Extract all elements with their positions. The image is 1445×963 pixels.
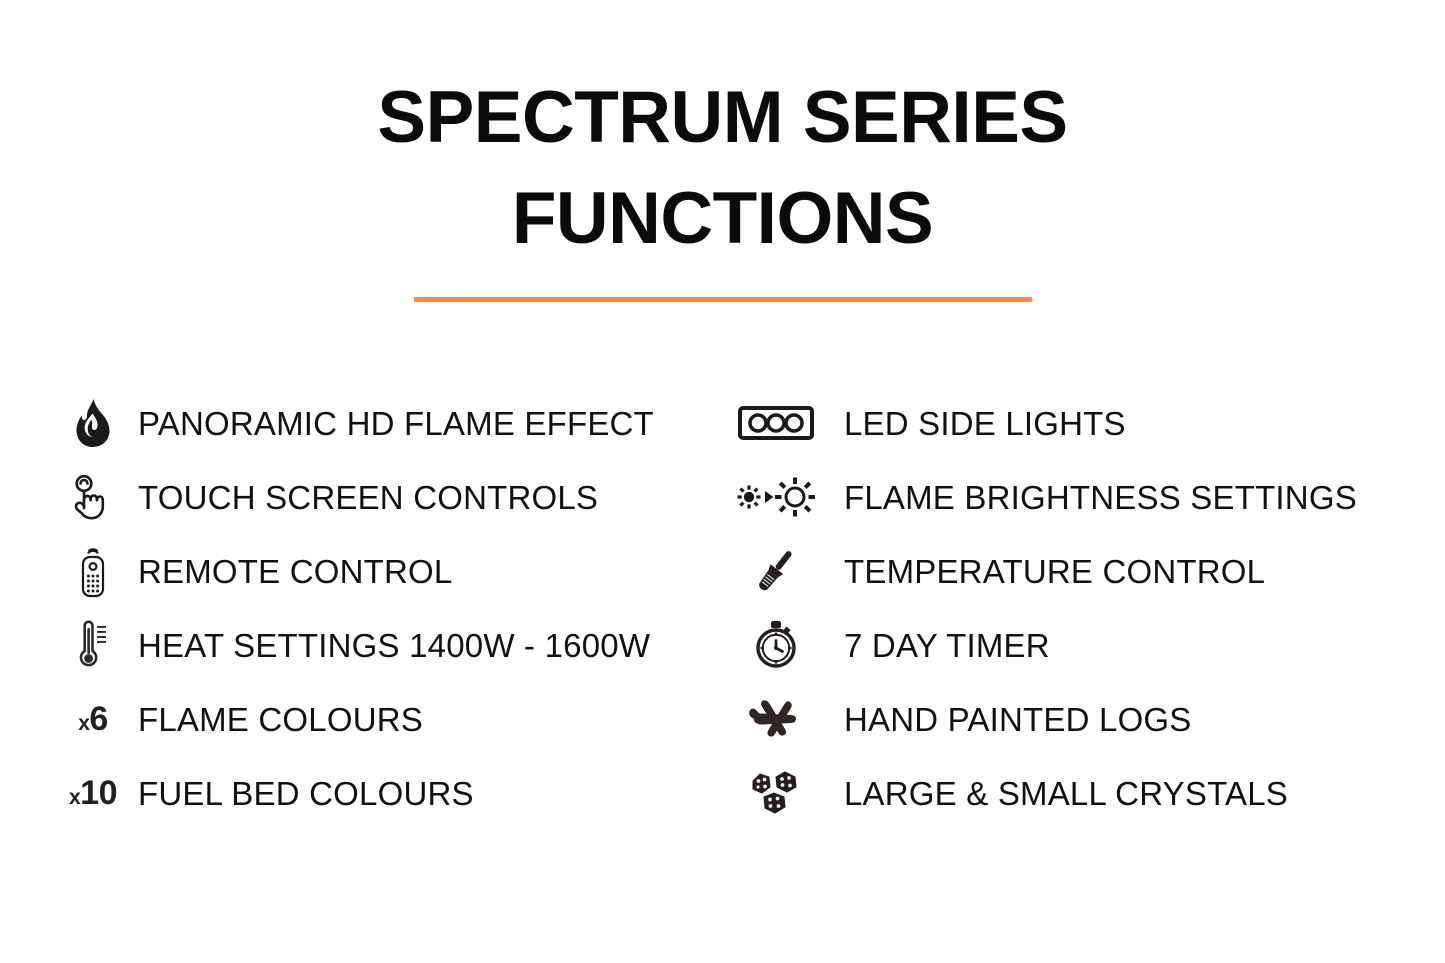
feature-label: HAND PAINTED LOGS	[844, 703, 1192, 736]
feature-label: HEAT SETTINGS 1400W - 1600W	[138, 629, 650, 662]
page-title: SPECTRUM SERIES FUNCTIONS	[0, 0, 1445, 302]
feature-row-crystals: LARGE & SMALL CRYSTALS	[730, 756, 1392, 830]
page-title-line-2: FUNCTIONS	[0, 169, 1445, 270]
feature-label: TOUCH SCREEN CONTROLS	[138, 481, 598, 514]
feature-label: 7 DAY TIMER	[844, 629, 1050, 662]
feature-label: LED SIDE LIGHTS	[844, 407, 1126, 440]
feature-label: FLAME BRIGHTNESS SETTINGS	[844, 481, 1357, 514]
feature-row-flame-colours: x 6 FLAME COLOURS	[56, 682, 712, 756]
multiplier-value: 10	[80, 776, 117, 810]
feature-row-led-side-lights: LED SIDE LIGHTS	[730, 386, 1392, 460]
feature-label: TEMPERATURE CONTROL	[844, 555, 1265, 588]
feature-row-flame-brightness: FLAME BRIGHTNESS SETTINGS	[730, 460, 1392, 534]
flame-icon	[56, 399, 130, 447]
stopwatch-icon	[730, 620, 822, 670]
thermometer-icon	[56, 619, 130, 671]
feature-row-remote-control: REMOTE CONTROL	[56, 534, 712, 608]
feature-label: REMOTE CONTROL	[138, 555, 452, 588]
feature-label: FUEL BED COLOURS	[138, 777, 474, 810]
brightness-icon	[730, 477, 822, 517]
logs-icon	[730, 697, 822, 741]
screwdriver-icon	[730, 545, 822, 597]
features-left-column: PANORAMIC HD FLAME EFFECT	[0, 386, 712, 830]
feature-label: PANORAMIC HD FLAME EFFECT	[138, 407, 654, 440]
x6-text-icon: x 6	[56, 702, 130, 736]
accent-divider	[414, 297, 1032, 302]
feature-row-fuel-bed-colours: x 10 FUEL BED COLOURS	[56, 756, 712, 830]
feature-row-touch-screen: TOUCH SCREEN CONTROLS	[56, 460, 712, 534]
feature-label: LARGE & SMALL CRYSTALS	[844, 777, 1288, 810]
touch-hand-icon	[56, 474, 130, 520]
features-right-column: LED SIDE LIGHTS	[712, 386, 1392, 830]
feature-row-hand-painted-logs: HAND PAINTED LOGS	[730, 682, 1392, 756]
features-grid: PANORAMIC HD FLAME EFFECT	[0, 386, 1445, 830]
remote-control-icon	[56, 544, 130, 598]
multiplier-prefix: x	[69, 787, 80, 808]
multiplier-prefix: x	[78, 713, 89, 734]
spectrum-functions-page: SPECTRUM SERIES FUNCTIONS PANORAMIC HD F…	[0, 0, 1445, 963]
divider-wrap	[0, 297, 1445, 302]
page-title-line-1: SPECTRUM SERIES	[0, 68, 1445, 169]
x10-text-icon: x 10	[56, 776, 130, 810]
crystals-icon	[730, 770, 822, 816]
led-lights-icon	[730, 405, 822, 441]
feature-row-heat-settings: HEAT SETTINGS 1400W - 1600W	[56, 608, 712, 682]
feature-row-day-timer: 7 DAY TIMER	[730, 608, 1392, 682]
feature-row-temperature-control: TEMPERATURE CONTROL	[730, 534, 1392, 608]
feature-row-panoramic-flame: PANORAMIC HD FLAME EFFECT	[56, 386, 712, 460]
multiplier-value: 6	[89, 702, 107, 736]
feature-label: FLAME COLOURS	[138, 703, 423, 736]
